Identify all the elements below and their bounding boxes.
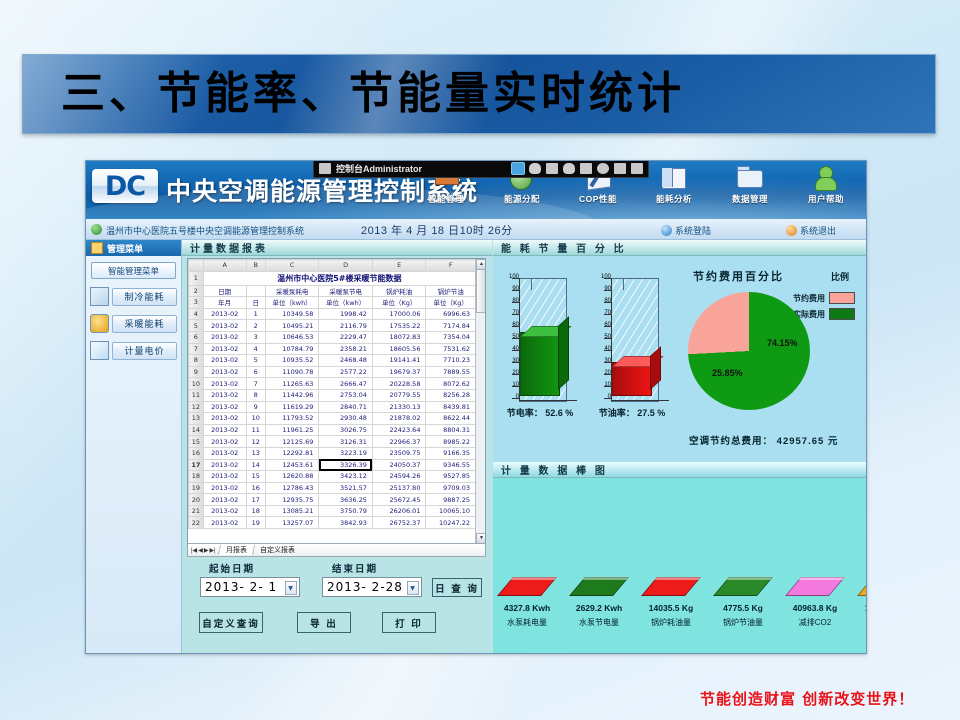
- table-row: 212013-021813085.213750.7926206.0110065.…: [189, 505, 476, 517]
- heating-icon: [90, 314, 109, 333]
- table-row: 1温州市中心医院5#楼采暖节能数据: [189, 271, 476, 285]
- row-header[interactable]: 19: [189, 482, 204, 494]
- cell-pump-power[interactable]: 12935.75: [265, 494, 319, 506]
- bar-label: 减排CO2: [791, 617, 839, 628]
- cursor-icon[interactable]: [563, 163, 575, 174]
- bar-label: 锅炉节油量: [719, 617, 767, 628]
- barchart-bars: 4327.8 Kwh水泵耗电量2629.2 Kwh水泵节电量14035.5 Kg…: [493, 462, 866, 654]
- end-date-input[interactable]: 2013- 2-28 ▼: [322, 577, 422, 597]
- system-logout-button[interactable]: 系统退出: [786, 224, 836, 237]
- row-header[interactable]: 13: [189, 413, 204, 425]
- cell-boiler-oil[interactable]: 26206.01: [372, 505, 426, 517]
- cell-boiler-oil-saving[interactable]: 7710.23: [426, 355, 476, 367]
- cell-boiler-oil-saving[interactable]: 7174.84: [426, 320, 476, 332]
- speaker-icon[interactable]: [631, 163, 643, 174]
- cell-year-month[interactable]: 2013-02: [203, 471, 246, 483]
- bar-item: 4327.8 Kwh水泵耗电量: [503, 577, 551, 628]
- cell-year-month[interactable]: 2013-02: [203, 505, 246, 517]
- gauge-axis-labels: 1009080706050403020100: [499, 278, 519, 400]
- page-title: 三、节能率、节能量实时统计: [61, 72, 685, 116]
- header-cell[interactable]: 单位（Kg）: [426, 297, 476, 309]
- last-sheet-icon[interactable]: ▶|: [209, 547, 215, 554]
- sidebar-item-heating[interactable]: 采暖能耗: [90, 314, 177, 333]
- print-button[interactable]: 打 印: [382, 612, 436, 633]
- header-cell[interactable]: 采暖泵节电: [319, 285, 373, 297]
- gauge-caption-label: 节电率：: [507, 408, 543, 418]
- pie-label-actual: 74.15%: [767, 338, 798, 348]
- cell-pump-saving[interactable]: 2666.47: [319, 378, 373, 390]
- chevron-down-icon[interactable]: ▼: [285, 581, 297, 595]
- column-header[interactable]: F: [426, 260, 476, 272]
- cell-pump-saving[interactable]: 2840.71: [319, 401, 373, 413]
- gauge-caption: 节油率： 27.5 %: [591, 406, 673, 419]
- header-cell[interactable]: 锅炉耗油: [372, 285, 426, 297]
- row-header[interactable]: 18: [189, 471, 204, 483]
- cell-boiler-oil-saving[interactable]: 9346.55: [426, 459, 476, 471]
- row-header[interactable]: 14: [189, 424, 204, 436]
- cell-pump-power[interactable]: 12125.69: [265, 436, 319, 448]
- cell-boiler-oil[interactable]: 18605.56: [372, 343, 426, 355]
- row-header[interactable]: 22: [189, 517, 204, 529]
- gauge-unit: %: [657, 408, 665, 418]
- table-row: 3年月日单位（kwh）单位（kwh）单位（Kg）单位（Kg）: [189, 297, 476, 309]
- cell-pump-power[interactable]: 11265.63: [265, 378, 319, 390]
- bar-value: 18687.6 Kg: [863, 603, 867, 613]
- bar-label: 水泵节电量: [575, 617, 623, 628]
- query-controls: 起始日期 结束日期 2013- 2- 1 ▼ 2013- 2-28 ▼ 日 查 …: [187, 557, 484, 647]
- bar-item: 14035.5 Kg锅炉耗油量: [647, 577, 695, 628]
- cell-pump-power[interactable]: 13257.07: [265, 517, 319, 529]
- cell-pump-saving[interactable]: 2358.21: [319, 343, 373, 355]
- table-row: 182013-021512620.883423.1224594.269527.8…: [189, 471, 476, 483]
- sheet-tab-custom[interactable]: 自定义报表: [252, 545, 302, 555]
- row-header[interactable]: 7: [189, 343, 204, 355]
- cell-pump-power[interactable]: 11961.25: [265, 424, 319, 436]
- sidebar-item-label: 采暖能耗: [112, 315, 177, 333]
- cell-pump-power[interactable]: 10935.52: [265, 355, 319, 367]
- slide-root: 三、节能率、节能量实时统计 DC 中央空调能源管理控制系统 智能管理 能源分配: [0, 0, 960, 720]
- cell-day[interactable]: 4: [246, 343, 265, 355]
- toolbar-label: 用户帮助: [790, 193, 862, 205]
- right-column: 能 耗 节 量 百 分 比 1009080706050403020100 节电率…: [493, 240, 866, 654]
- cell-day[interactable]: 2: [246, 320, 265, 332]
- header-cell[interactable]: 日期: [203, 285, 246, 297]
- cell-day[interactable]: 6: [246, 366, 265, 378]
- report-panel-title: 计量数据报表: [182, 240, 492, 256]
- cell-boiler-oil-saving[interactable]: 8072.62: [426, 378, 476, 390]
- bar-label: 锅炉耗油量: [647, 617, 695, 628]
- system-login-label: 系统登陆: [675, 226, 711, 236]
- application-window: DC 中央空调能源管理控制系统 智能管理 能源分配 COP性: [85, 160, 867, 654]
- cell-pump-power[interactable]: 10495.21: [265, 320, 319, 332]
- column-header[interactable]: D: [319, 260, 373, 272]
- gauge-unit: %: [565, 408, 573, 418]
- cell-day[interactable]: 7: [246, 378, 265, 390]
- sidebar-item-label: 制冷能耗: [112, 288, 177, 306]
- legend-label: 节约费用: [793, 293, 825, 304]
- cell-boiler-oil[interactable]: 21878.02: [372, 413, 426, 425]
- table-row: 202013-021712935.753636.2525672.459887.2…: [189, 494, 476, 506]
- sidebar-header: 管理菜单: [86, 240, 181, 256]
- current-datetime: 2013 年 4 月 18 日10时 26分: [361, 222, 513, 238]
- cell-pump-power[interactable]: 10646.53: [265, 331, 319, 343]
- cell-boiler-oil[interactable]: 24050.37: [372, 459, 426, 471]
- cell-day[interactable]: 19: [246, 517, 265, 529]
- cell-pump-power[interactable]: 11090.78: [265, 366, 319, 378]
- table-row: 162013-021312292.813223.1923509.759166.3…: [189, 447, 476, 459]
- table-row: 152013-021212125.693126.3122966.378985.2…: [189, 436, 476, 448]
- cell-pump-power[interactable]: 12292.81: [265, 447, 319, 459]
- legend-swatch: [829, 308, 855, 320]
- header-cell[interactable]: 日: [246, 297, 265, 309]
- table-row: 42013-02110349.581998.4217000.066996.63: [189, 308, 476, 320]
- total-cost-label: 空调节约总费用：: [689, 436, 773, 447]
- row-header[interactable]: 11: [189, 389, 204, 401]
- cell-boiler-oil[interactable]: 20779.55: [372, 389, 426, 401]
- gauge-value: 52.6: [545, 408, 563, 418]
- cell-year-month[interactable]: 2013-02: [203, 331, 246, 343]
- cell-boiler-oil-saving[interactable]: 8804.31: [426, 424, 476, 436]
- sidebar-item-smart-menu[interactable]: 智能管理菜单: [91, 262, 176, 279]
- row-header[interactable]: 15: [189, 436, 204, 448]
- legend-swatch: [829, 292, 855, 304]
- cell-year-month[interactable]: 2013-02: [203, 378, 246, 390]
- cell-day[interactable]: 10: [246, 413, 265, 425]
- custom-query-button[interactable]: 自定义查询: [199, 612, 263, 633]
- prev-sheet-icon[interactable]: ◀: [198, 547, 203, 554]
- table-row: 2日期采暖泵耗电采暖泵节电锅炉耗油锅炉节油: [189, 285, 476, 297]
- toolbar-item-user-help[interactable]: 用户帮助: [790, 164, 862, 205]
- cell-boiler-oil-saving[interactable]: 8622.44: [426, 413, 476, 425]
- cell-boiler-oil-saving[interactable]: 8439.81: [426, 401, 476, 413]
- row-header[interactable]: 20: [189, 494, 204, 506]
- cell-boiler-oil[interactable]: 22966.37: [372, 436, 426, 448]
- bar-item: 40963.8 Kg减排CO2: [791, 577, 839, 628]
- resize-icon[interactable]: [580, 163, 592, 174]
- table-row: 62013-02310646.532229.4718072.837354.04: [189, 331, 476, 343]
- barchart-panel: 计 量 数 据 棒 图 4327.8 Kwh水泵耗电量2629.2 Kwh水泵节…: [493, 462, 866, 654]
- mouse-icon[interactable]: [529, 163, 541, 174]
- report-panel: 计量数据报表 ABCDEF1温州市中心医院5#楼采暖节能数据2日期采暖泵耗电采暖…: [182, 240, 492, 654]
- gauge-caption-label: 节油率：: [599, 408, 635, 418]
- cell-year-month[interactable]: 2013-02: [203, 389, 246, 401]
- table-row: 172013-021412453.613326.3924050.379346.5…: [189, 459, 476, 471]
- row-header[interactable]: 4: [189, 308, 204, 320]
- row-header[interactable]: 6: [189, 331, 204, 343]
- header-cell[interactable]: [246, 285, 265, 297]
- cell-year-month[interactable]: 2013-02: [203, 343, 246, 355]
- row-header[interactable]: 16: [189, 447, 204, 459]
- cell-day[interactable]: 5: [246, 355, 265, 367]
- sheet-tab-label: 月报表: [226, 545, 247, 555]
- cell-boiler-oil[interactable]: 17000.06: [372, 308, 426, 320]
- header-cell[interactable]: 单位（Kg）: [372, 297, 426, 309]
- cell-boiler-oil-saving[interactable]: 10065.10: [426, 505, 476, 517]
- sidebar-item-cooling[interactable]: 制冷能耗: [90, 287, 177, 306]
- cell-day[interactable]: 8: [246, 389, 265, 401]
- sidebar: 管理菜单 智能管理菜单 制冷能耗 采暖能耗 计量电价: [86, 240, 182, 654]
- cell-pump-saving[interactable]: 1998.42: [319, 308, 373, 320]
- scrollbar-thumb[interactable]: [476, 269, 486, 313]
- header-cell[interactable]: 年月: [203, 297, 246, 309]
- table-row: 132013-021011793.522930.4821878.028622.4…: [189, 413, 476, 425]
- cell-year-month[interactable]: 2013-02: [203, 320, 246, 332]
- cell-boiler-oil[interactable]: 19679.37: [372, 366, 426, 378]
- table-row: 72013-02410784.792358.2118605.567531.62: [189, 343, 476, 355]
- cell-year-month[interactable]: 2013-02: [203, 424, 246, 436]
- column-header[interactable]: B: [246, 260, 265, 272]
- cell-day[interactable]: 9: [246, 401, 265, 413]
- console-bar-label: 控制台Administrator: [336, 162, 422, 175]
- column-header-row: ABCDEF: [189, 260, 476, 272]
- next-sheet-icon[interactable]: ▶: [204, 547, 209, 554]
- column-header[interactable]: E: [372, 260, 426, 272]
- table-row: 92013-02611090.782577.2219679.377889.55: [189, 366, 476, 378]
- cell-boiler-oil-saving[interactable]: 6996.63: [426, 308, 476, 320]
- cell-pump-power[interactable]: 12620.88: [265, 471, 319, 483]
- cell-year-month[interactable]: 2013-02: [203, 308, 246, 320]
- cell-boiler-oil[interactable]: 22423.64: [372, 424, 426, 436]
- keyboard-icon[interactable]: [614, 163, 626, 174]
- menu-icon: [91, 242, 103, 254]
- sheet-tab-label: 自定义报表: [260, 545, 295, 555]
- cell-boiler-oil-saving[interactable]: 7889.55: [426, 366, 476, 378]
- row-header[interactable]: 10: [189, 378, 204, 390]
- bar-item: 18687.6 Kg标煤: [863, 577, 867, 628]
- sheet-tab-monthly[interactable]: 月报表: [218, 545, 254, 555]
- hand-icon[interactable]: [597, 163, 609, 174]
- bar-value: 40963.8 Kg: [791, 603, 839, 613]
- cell-pump-power[interactable]: 11619.29: [265, 401, 319, 413]
- total-cost-value: 42957.65: [777, 436, 825, 447]
- day-query-button[interactable]: 日 查 询: [432, 578, 482, 597]
- login-icon: [661, 225, 672, 236]
- bar-chip: [713, 577, 773, 596]
- bar-value: 2629.2 Kwh: [575, 603, 623, 613]
- bar-chip: [497, 577, 557, 596]
- cell-day[interactable]: 3: [246, 331, 265, 343]
- legend-item-actual-cost: 实际费用: [793, 308, 855, 320]
- bar-item: 2629.2 Kwh水泵节电量: [575, 577, 623, 628]
- table-row: 122013-02911619.292840.7121330.138439.81: [189, 401, 476, 413]
- first-sheet-icon[interactable]: |◀: [191, 547, 197, 554]
- toolbar-label: COP性能: [562, 193, 634, 205]
- cell-boiler-oil[interactable]: 20228.58: [372, 378, 426, 390]
- sheet-title-cell[interactable]: 温州市中心医院5#楼采暖节能数据: [203, 271, 475, 285]
- cell-pump-power[interactable]: 11793.52: [265, 413, 319, 425]
- cell-day[interactable]: 16: [246, 482, 265, 494]
- toolbar-label: 能源分配: [486, 193, 558, 205]
- cell-day[interactable]: 13: [246, 447, 265, 459]
- cell-pump-saving[interactable]: 2930.48: [319, 413, 373, 425]
- cell-pump-saving[interactable]: 3026.75: [319, 424, 373, 436]
- cell-year-month[interactable]: 2013-02: [203, 459, 246, 471]
- cooling-icon: [90, 287, 109, 306]
- toolbar-item-data-management[interactable]: 数据管理: [714, 164, 786, 205]
- start-date-input[interactable]: 2013- 2- 1 ▼: [200, 577, 300, 597]
- gauge-caption: 节电率： 52.6 %: [499, 406, 581, 419]
- toolbar-label: 能耗分析: [638, 193, 710, 205]
- cell-year-month[interactable]: 2013-02: [203, 355, 246, 367]
- cell-boiler-oil[interactable]: 25137.80: [372, 482, 426, 494]
- site-name: 温州市中心医院五号楼中央空调能源管理控制系统: [106, 224, 304, 237]
- cell-pump-power[interactable]: 10784.79: [265, 343, 319, 355]
- sidebar-item-label: 计量电价: [112, 342, 177, 360]
- spreadsheet[interactable]: ABCDEF1温州市中心医院5#楼采暖节能数据2日期采暖泵耗电采暖泵节电锅炉耗油…: [187, 258, 486, 545]
- system-logout-label: 系统退出: [800, 226, 836, 236]
- export-button[interactable]: 导 出: [297, 612, 351, 633]
- cell-year-month[interactable]: 2013-02: [203, 366, 246, 378]
- cell-pump-saving[interactable]: 2468.48: [319, 355, 373, 367]
- header-cell[interactable]: 锅炉节油: [426, 285, 476, 297]
- row-header[interactable]: 21: [189, 505, 204, 517]
- cell-year-month[interactable]: 2013-02: [203, 447, 246, 459]
- percentage-panel: 能 耗 节 量 百 分 比 1009080706050403020100 节电率…: [493, 240, 866, 462]
- cell-pump-saving[interactable]: 3126.31: [319, 436, 373, 448]
- row-header[interactable]: 17: [189, 459, 204, 471]
- cell-pump-saving[interactable]: 3423.12: [319, 471, 373, 483]
- table-row: 82013-02510935.522468.4819141.417710.23: [189, 355, 476, 367]
- cell-boiler-oil[interactable]: 25672.45: [372, 494, 426, 506]
- table-row: 52013-02210495.212116.7917535.227174.84: [189, 320, 476, 332]
- cell-day[interactable]: 11: [246, 424, 265, 436]
- row-header[interactable]: 12: [189, 401, 204, 413]
- cell-boiler-oil-saving[interactable]: 9709.03: [426, 482, 476, 494]
- cell-boiler-oil-saving[interactable]: 7531.62: [426, 343, 476, 355]
- sidebar-item-price[interactable]: 计量电价: [90, 341, 177, 360]
- cell-boiler-oil-saving[interactable]: 10247.22: [426, 517, 476, 529]
- cell-boiler-oil-saving[interactable]: 9527.85: [426, 471, 476, 483]
- cell-day[interactable]: 14: [246, 459, 265, 471]
- bar-value: 4327.8 Kwh: [503, 603, 551, 613]
- status-dot-icon: [91, 224, 102, 235]
- header-cell[interactable]: 采暖泵耗电: [265, 285, 319, 297]
- bar-chip: [857, 577, 867, 596]
- column-header[interactable]: A: [203, 260, 246, 272]
- toolbar-label: 智能管理: [410, 193, 482, 205]
- sheet-tab-bar[interactable]: |◀ ◀ ▶ ▶| 月报表 自定义报表: [187, 543, 486, 557]
- cell-pump-saving[interactable]: 3636.25: [319, 494, 373, 506]
- window-icon[interactable]: [546, 163, 558, 174]
- gauge-baseline: [611, 400, 669, 401]
- total-cost-unit: 元: [828, 436, 839, 447]
- cell-boiler-oil[interactable]: 17535.22: [372, 320, 426, 332]
- cell-year-month[interactable]: 2013-02: [203, 413, 246, 425]
- start-date-value: 2013- 2- 1: [205, 580, 277, 594]
- cell-boiler-oil[interactable]: 21330.13: [372, 401, 426, 413]
- gauge-axis-labels: 1009080706050403020100: [591, 278, 611, 400]
- table-row: 222013-021913257.073842.9326752.3710247.…: [189, 517, 476, 529]
- cell-boiler-oil[interactable]: 19141.41: [372, 355, 426, 367]
- table-row: 192013-021612786.433521.5725137.809709.0…: [189, 482, 476, 494]
- spreadsheet-vertical-scrollbar[interactable]: ▲ ▼: [475, 259, 485, 544]
- bar-item: 4775.5 Kg锅炉节油量: [719, 577, 767, 628]
- price-icon: [90, 341, 109, 360]
- pie-chart: [688, 292, 810, 410]
- system-login-button[interactable]: 系统登陆: [661, 224, 711, 237]
- bar-value: 14035.5 Kg: [647, 603, 695, 613]
- cell-boiler-oil[interactable]: 26752.37: [372, 517, 426, 529]
- row-header[interactable]: 8: [189, 355, 204, 367]
- cell-boiler-oil-saving[interactable]: 9887.25: [426, 494, 476, 506]
- cell-pump-saving[interactable]: 3326.39: [319, 459, 373, 471]
- bar-label: 水泵耗电量: [503, 617, 551, 628]
- cell-year-month[interactable]: 2013-02: [203, 494, 246, 506]
- gauge-oil-saving-rate: 1009080706050403020100 节油率： 27.5 %: [591, 274, 673, 414]
- cell-pump-power[interactable]: 11442.96: [265, 389, 319, 401]
- bar-chip: [641, 577, 701, 596]
- spreadsheet-table: ABCDEF1温州市中心医院5#楼采暖节能数据2日期采暖泵耗电采暖泵节电锅炉耗油…: [188, 259, 476, 529]
- cell-pump-saving[interactable]: 3223.19: [319, 447, 373, 459]
- cell-boiler-oil[interactable]: 24594.26: [372, 471, 426, 483]
- cell-boiler-oil-saving[interactable]: 7354.04: [426, 331, 476, 343]
- cell-day[interactable]: 18: [246, 505, 265, 517]
- cell-boiler-oil-saving[interactable]: 8985.22: [426, 436, 476, 448]
- chevron-down-icon[interactable]: ▼: [407, 581, 419, 595]
- cell-pump-power[interactable]: 13085.21: [265, 505, 319, 517]
- cell-year-month[interactable]: 2013-02: [203, 482, 246, 494]
- header-cell[interactable]: 单位（kwh）: [265, 297, 319, 309]
- cell-pump-saving[interactable]: 3842.93: [319, 517, 373, 529]
- folder-icon: [735, 164, 765, 192]
- cell-boiler-oil-saving[interactable]: 8256.28: [426, 389, 476, 401]
- app-header: DC 中央空调能源管理控制系统 智能管理 能源分配 COP性: [86, 161, 866, 219]
- cell-pump-power[interactable]: 10349.58: [265, 308, 319, 320]
- cell-pump-power[interactable]: 12453.61: [265, 459, 319, 471]
- cell-pump-power[interactable]: 12786.43: [265, 482, 319, 494]
- header-cell[interactable]: 单位（kwh）: [319, 297, 373, 309]
- total-saving-cost: 空调节约总费用： 42957.65 元: [689, 433, 838, 447]
- cell-day[interactable]: 15: [246, 471, 265, 483]
- pie-legend-title: 比例: [831, 270, 849, 283]
- column-header[interactable]: C: [265, 260, 319, 272]
- cell-day[interactable]: 1: [246, 308, 265, 320]
- row-header[interactable]: 9: [189, 366, 204, 378]
- cell-pump-saving[interactable]: 3521.57: [319, 482, 373, 494]
- toolbar-label: 数据管理: [714, 193, 786, 205]
- bar-chip: [569, 577, 629, 596]
- slide-title-banner: 三、节能率、节能量实时统计: [22, 54, 936, 134]
- cell-day[interactable]: 17: [246, 494, 265, 506]
- monitor-icon[interactable]: [512, 163, 524, 174]
- cell-year-month[interactable]: 2013-02: [203, 401, 246, 413]
- cell-pump-saving[interactable]: 3750.79: [319, 505, 373, 517]
- cell-pump-saving[interactable]: 2753.04: [319, 389, 373, 401]
- table-row: 112013-02811442.962753.0420779.558256.28: [189, 389, 476, 401]
- cell-year-month[interactable]: 2013-02: [203, 436, 246, 448]
- row-header[interactable]: 5: [189, 320, 204, 332]
- gauge-power-saving-rate: 1009080706050403020100 节电率： 52.6 %: [499, 274, 581, 414]
- bar-chip: [785, 577, 845, 596]
- cell-year-month[interactable]: 2013-02: [203, 517, 246, 529]
- cell-day[interactable]: 12: [246, 436, 265, 448]
- console-overlay-bar[interactable]: 控制台Administrator: [313, 161, 649, 178]
- cell-pump-saving[interactable]: 2116.79: [319, 320, 373, 332]
- table-row: 142013-021111961.253026.7522423.648804.3…: [189, 424, 476, 436]
- cell-boiler-oil[interactable]: 23509.75: [372, 447, 426, 459]
- cell-pump-saving[interactable]: 2577.22: [319, 366, 373, 378]
- bar-label: 标煤: [863, 617, 867, 628]
- cell-pump-saving[interactable]: 2229.47: [319, 331, 373, 343]
- app-body: 管理菜单 智能管理菜单 制冷能耗 采暖能耗 计量电价 计量数据报表: [86, 240, 866, 654]
- sheet-nav-buttons[interactable]: |◀ ◀ ▶ ▶|: [188, 547, 219, 554]
- sidebar-header-label: 管理菜单: [107, 242, 143, 255]
- cell-boiler-oil[interactable]: 18072.83: [372, 331, 426, 343]
- book-icon: [659, 164, 689, 192]
- cell-boiler-oil-saving[interactable]: 9166.35: [426, 447, 476, 459]
- pie-chart-title: 节约费用百分比: [693, 268, 784, 284]
- end-date-label: 结束日期: [332, 561, 378, 575]
